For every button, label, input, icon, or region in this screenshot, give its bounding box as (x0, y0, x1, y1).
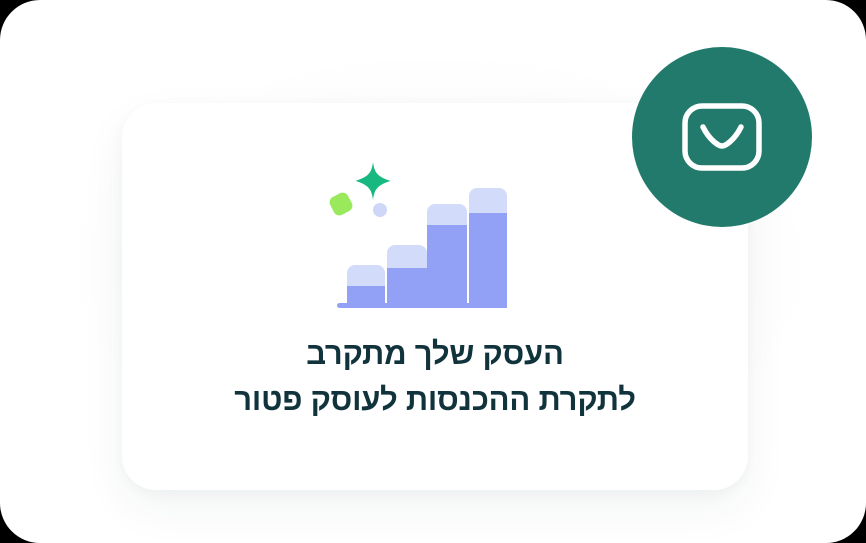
chart-baseline (337, 303, 505, 308)
envelope-icon (679, 94, 765, 180)
chart-bar-4-filled (469, 213, 507, 308)
green-square-decoration (327, 190, 354, 217)
chart-bar-3 (427, 204, 467, 308)
card-headline-line-2: לתקרת ההכנסות לעוסק פטור (122, 377, 748, 423)
chart-bar-1 (347, 265, 385, 308)
chart-bar-4 (469, 188, 507, 308)
lavender-dot-decoration (373, 203, 387, 217)
growth-bar-chart-illustration (332, 148, 532, 308)
card-headline: העסק שלך מתקרב לתקרת ההכנסות לעוסק פטור (122, 331, 748, 423)
app-surface: העסק שלך מתקרב לתקרת ההכנסות לעוסק פטור (0, 0, 866, 543)
chart-bar-3-filled (427, 225, 467, 308)
sparkle-star-icon (353, 161, 393, 201)
card-headline-line-1: העסק שלך מתקרב (122, 331, 748, 377)
chart-bar-2 (387, 245, 427, 308)
envelope-badge[interactable] (632, 47, 812, 227)
screenshot-root: העסק שלך מתקרב לתקרת ההכנסות לעוסק פטור (0, 0, 866, 543)
chart-bar-2-filled (387, 268, 427, 308)
